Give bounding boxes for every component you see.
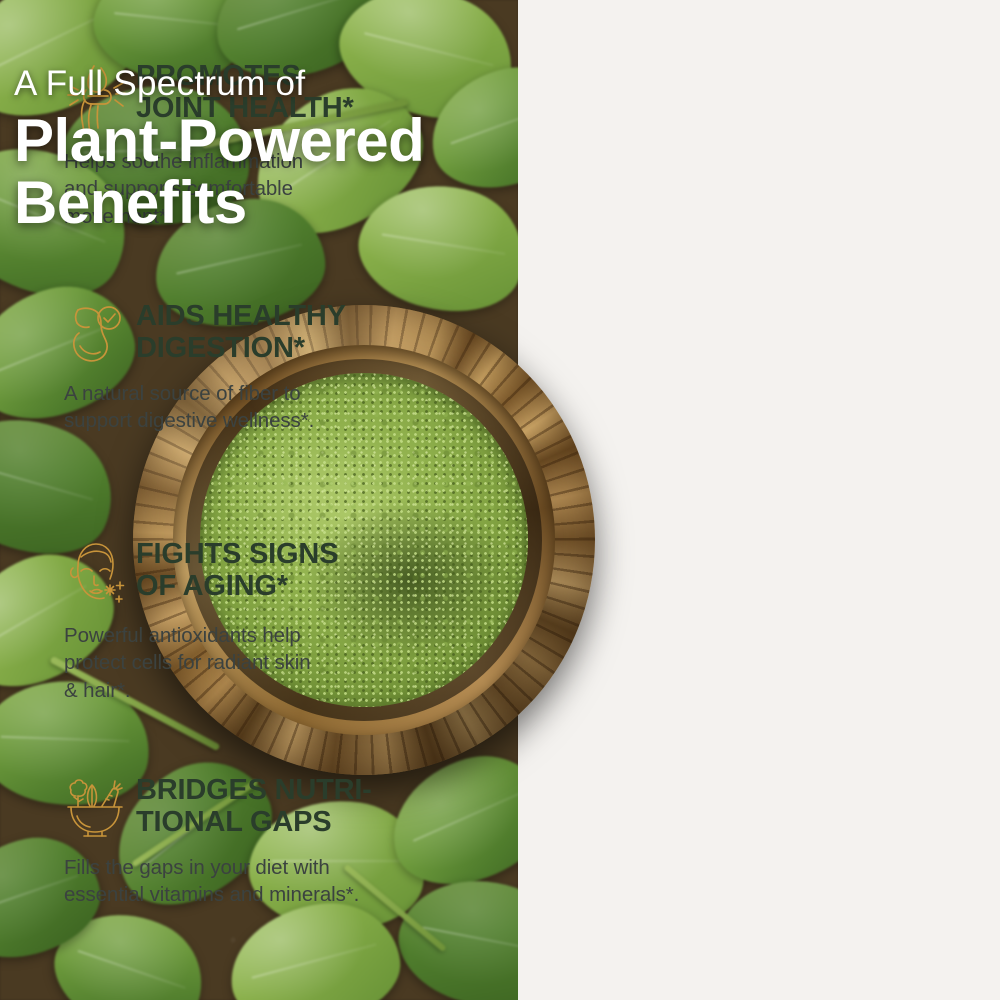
benefit-title: AIDS HEALTHY DIGESTION* — [136, 298, 346, 365]
benefit-desc-line1: A natural source of fiber to — [64, 380, 482, 407]
benefit-title-line2: OF AGING* — [136, 570, 338, 602]
benefit-item-nutritional-gaps: BRIDGES NUTRI- TIONAL GAPS Fills the gap… — [64, 772, 482, 909]
benefit-title: FIGHTS SIGNS OF AGING* — [136, 536, 338, 603]
benefit-title: BRIDGES NUTRI- TIONAL GAPS — [136, 772, 372, 839]
benefit-desc-line1: Fills the gaps in your diet with — [64, 854, 482, 881]
benefit-desc-line3: & hair*. — [64, 677, 482, 704]
benefit-item-anti-aging: FIGHTS SIGNS OF AGING* Powerful antioxid… — [64, 536, 482, 704]
vegetable-bowl-icon — [64, 774, 126, 840]
stomach-check-icon — [64, 300, 126, 366]
hero-title-block: A Full Spectrum of Plant-Powered Benefit… — [14, 66, 518, 234]
benefit-desc-line2: support digestive wellness*. — [64, 407, 482, 434]
benefit-header: FIGHTS SIGNS OF AGING* — [64, 536, 482, 608]
benefit-description: A natural source of fiber to support dig… — [64, 380, 482, 435]
hero-eyebrow: A Full Spectrum of — [14, 66, 518, 101]
hero-title: Plant-Powered Benefits — [14, 110, 518, 234]
hero-title-line1: Plant-Powered — [14, 107, 424, 174]
hero-title-line2: Benefits — [14, 172, 518, 234]
benefit-title-line1: FIGHTS SIGNS — [136, 538, 338, 570]
benefit-item-digestion: AIDS HEALTHY DIGESTION* A natural source… — [64, 298, 482, 435]
benefit-title-line2: TIONAL GAPS — [136, 806, 372, 838]
benefit-desc-line1: Powerful antioxidants help — [64, 622, 482, 649]
benefit-description: Powerful antioxidants help protect cells… — [64, 622, 482, 704]
benefits-panel — [518, 0, 1000, 1000]
benefit-desc-line2: essential vitamins and minerals*. — [64, 881, 482, 908]
benefit-title-line2: DIGESTION* — [136, 332, 346, 364]
benefit-header: AIDS HEALTHY DIGESTION* — [64, 298, 482, 366]
benefit-title-line1: BRIDGES NUTRI- — [136, 774, 372, 806]
benefit-header: BRIDGES NUTRI- TIONAL GAPS — [64, 772, 482, 840]
benefit-desc-line2: protect cells for radiant skin — [64, 649, 482, 676]
benefit-description: Fills the gaps in your diet with essenti… — [64, 854, 482, 909]
benefits-poster: A Full Spectrum of Plant-Powered Benefit… — [0, 0, 1000, 1000]
face-sparkle-icon — [64, 538, 126, 608]
benefit-title-line1: AIDS HEALTHY — [136, 300, 346, 332]
